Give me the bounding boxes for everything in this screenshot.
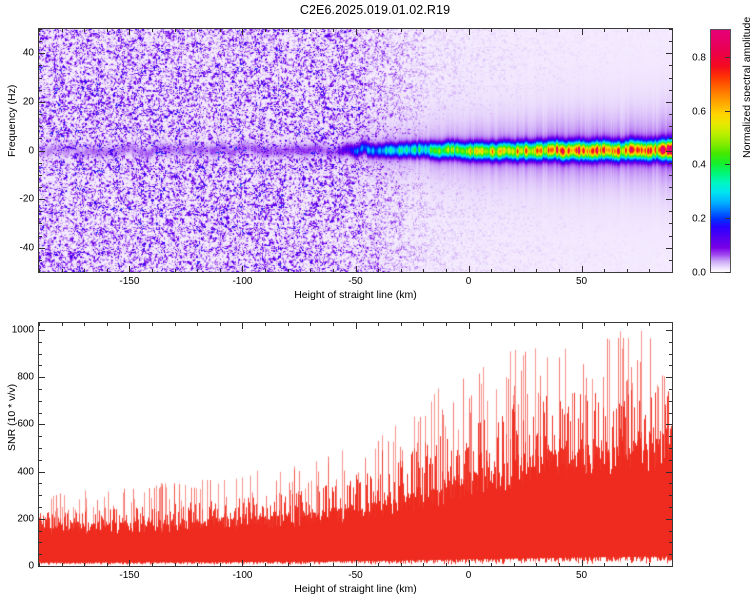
x-tick-label: 50 <box>576 570 587 581</box>
snr-x-axis-label: Height of straight line (km) <box>38 583 673 595</box>
snr-y-axis-label-text: SNR (10 * v/v) <box>6 437 18 451</box>
x-tick-label: -100 <box>232 570 252 581</box>
snr-x-tick-labels: -150-100-50050 <box>0 0 750 600</box>
snr-y-axis-label: SNR (10 * v/v) <box>6 444 20 458</box>
figure-root: C2E6.2025.019.01.02.R19 -40-2002040 -150… <box>0 0 750 600</box>
x-tick-label: -150 <box>119 570 139 581</box>
x-tick-label: 0 <box>466 570 472 581</box>
x-tick-label: -50 <box>348 570 362 581</box>
